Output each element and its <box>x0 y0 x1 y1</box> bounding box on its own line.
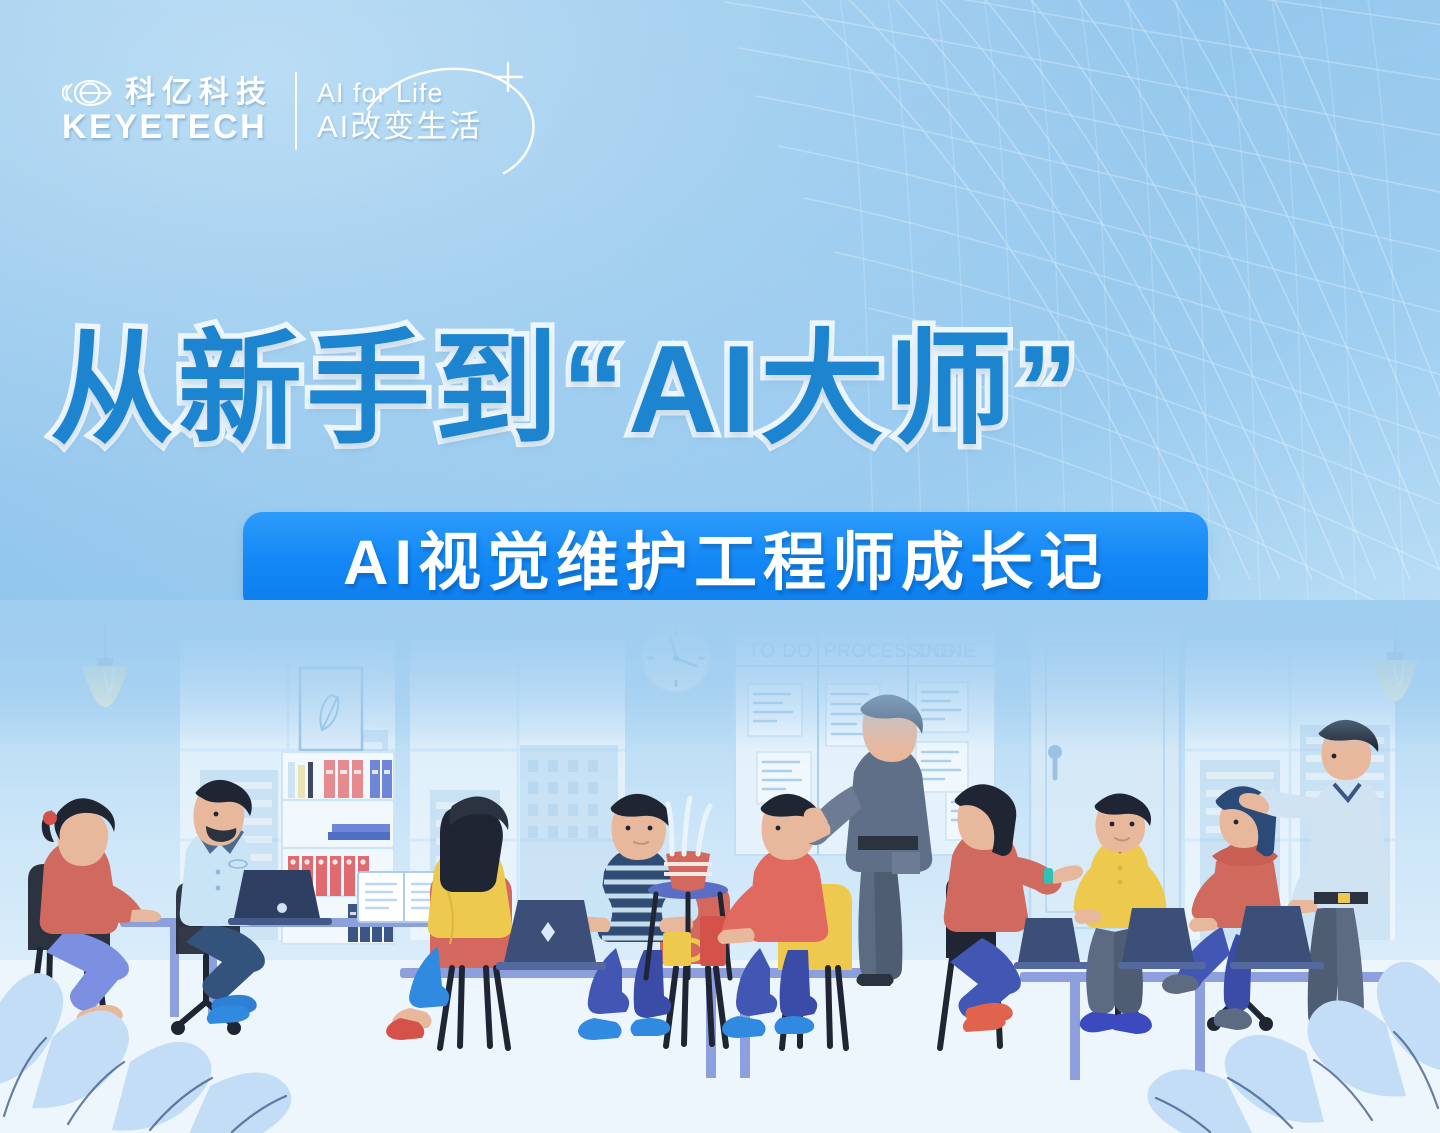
brand-name-cn: 科亿科技 <box>125 78 273 108</box>
brand-name-en: KEYETECH <box>62 110 273 144</box>
logo-divider <box>295 72 297 150</box>
page-title: 从新手到“AI大师” <box>50 328 1390 452</box>
brand-name-block: 科亿科技 KEYETECH <box>62 78 273 144</box>
brand-name-row: 科亿科技 <box>62 78 273 108</box>
subtitle-banner-wrap: AI视觉维护工程师成长记 <box>243 512 1208 614</box>
poster-root: 科亿科技 KEYETECH AI for Life AI改变生活 从新手到“AI… <box>0 0 1440 1133</box>
office-illustration: TO DO PROCESSING DONE <box>0 600 1440 1133</box>
brand-slogan-block: AI for Life AI改变生活 <box>317 79 540 144</box>
subtitle-banner: AI视觉维护工程师成长记 <box>243 512 1208 614</box>
swoosh-arc-icon <box>358 57 558 177</box>
eye-logo-icon <box>62 79 112 107</box>
brand-logo: 科亿科技 KEYETECH AI for Life AI改变生活 <box>62 72 540 150</box>
subtitle-text: AI视觉维护工程师成长记 <box>343 532 1108 595</box>
